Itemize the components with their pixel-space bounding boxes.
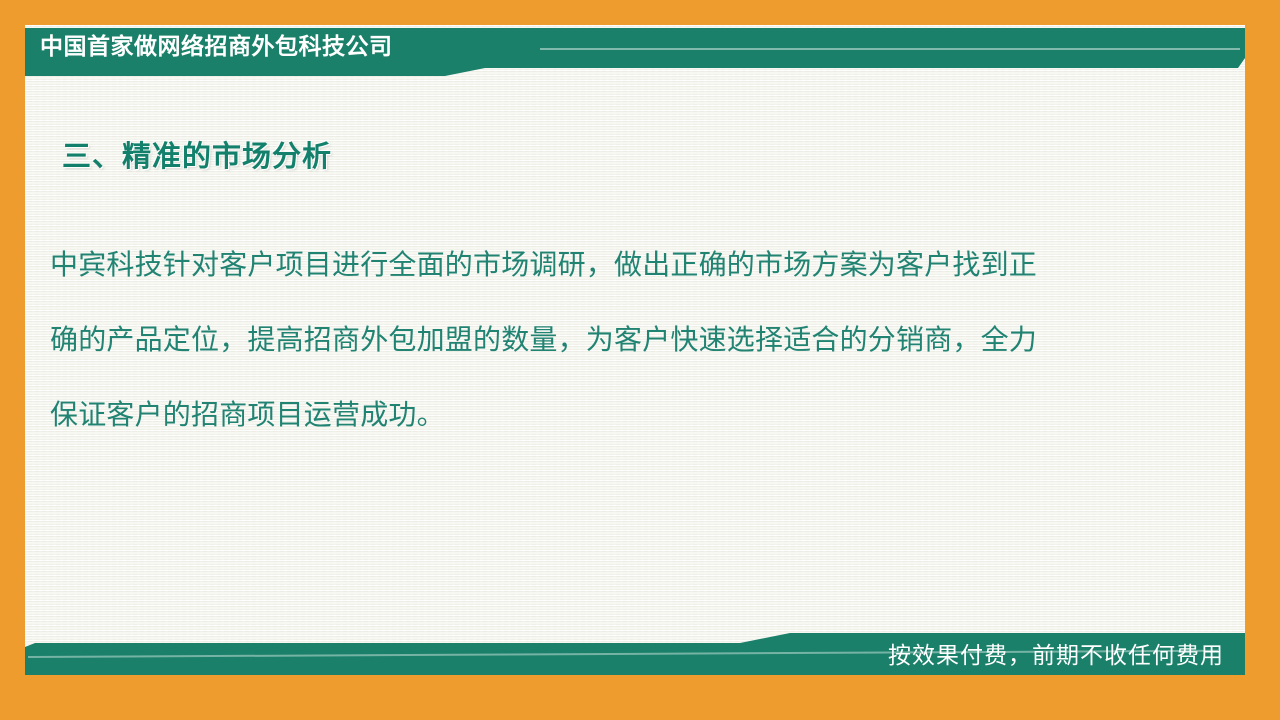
frame-border-top (0, 0, 1280, 25)
body-line-3: 保证客户的招商项目运营成功。 (50, 378, 1185, 453)
body-paragraph: 中宾科技针对客户项目进行全面的市场调研，做出正确的市场方案为客户找到正 确的产品… (50, 228, 1185, 453)
frame-border-bottom (0, 675, 1280, 720)
body-line-2: 确的产品定位，提高招商外包加盟的数量，为客户快速选择适合的分销商，全力 (50, 303, 1185, 378)
body-line-1: 中宾科技针对客户项目进行全面的市场调研，做出正确的市场方案为客户找到正 (50, 228, 1185, 303)
frame-border-right (1245, 0, 1280, 720)
slide-canvas: 三、精准的市场分析 中宾科技针对客户项目进行全面的市场调研，做出正确的市场方案为… (25, 25, 1245, 675)
header-title: 中国首家做网络招商外包科技公司 (40, 31, 393, 61)
header-rule-line (540, 48, 1240, 50)
section-heading: 三、精准的市场分析 (62, 137, 332, 177)
frame-border-left (0, 0, 25, 720)
presentation-slide: 三、精准的市场分析 中宾科技针对客户项目进行全面的市场调研，做出正确的市场方案为… (0, 0, 1280, 720)
footer-tagline: 按效果付费，前期不收任何费用 (888, 640, 1224, 670)
